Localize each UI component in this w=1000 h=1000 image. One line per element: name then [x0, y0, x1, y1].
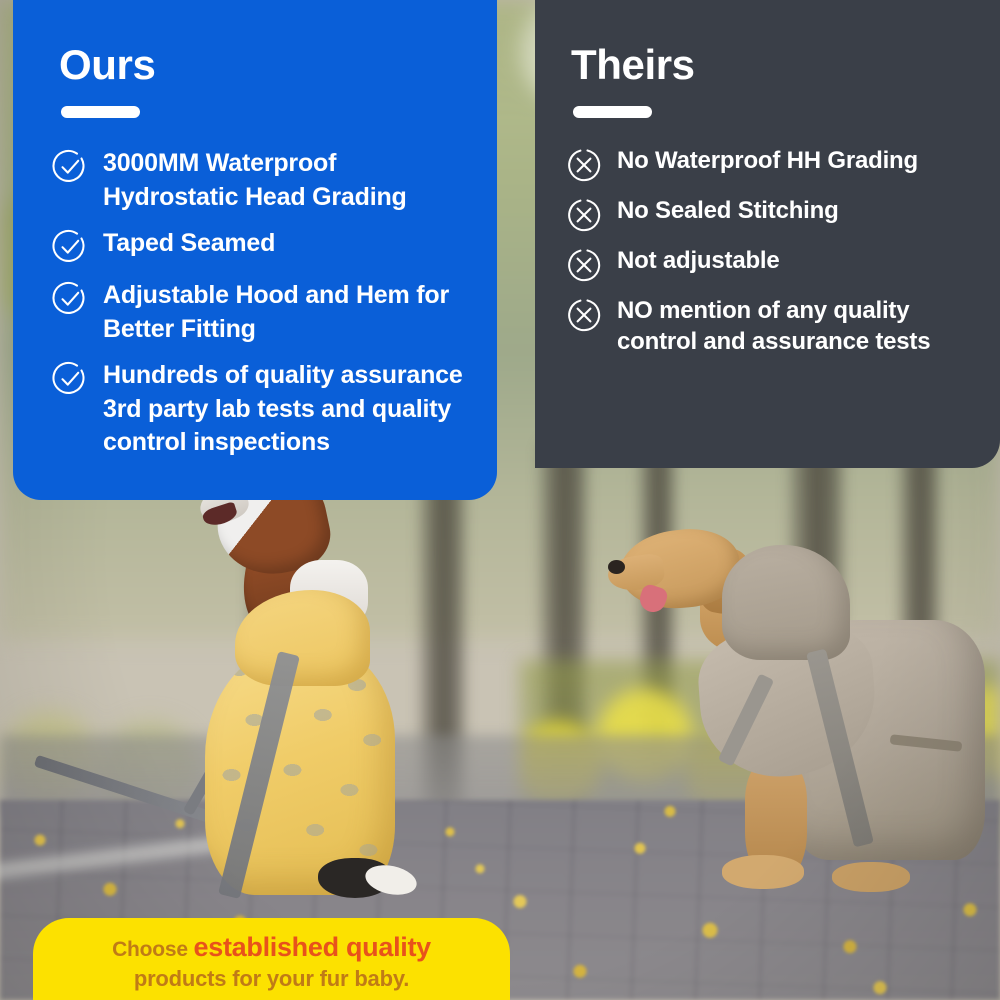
list-item: No Waterproof HH Grading: [565, 144, 978, 184]
theirs-feature-list: No Waterproof HH Grading No Sealed Stitc…: [565, 144, 978, 357]
x-circle-icon: [565, 246, 603, 284]
promo-banner: Choose established quality products for …: [33, 918, 510, 1000]
theirs-title-underline: [573, 106, 652, 118]
ours-title: Ours: [59, 44, 475, 86]
list-item: NO mention of any quality control and as…: [565, 294, 978, 357]
list-item: No Sealed Stitching: [565, 194, 978, 234]
check-circle-icon: [51, 280, 89, 318]
list-item-label: Not adjustable: [617, 244, 780, 276]
list-item-label: Taped Seamed: [103, 226, 275, 261]
list-item: Taped Seamed: [51, 226, 475, 266]
x-circle-icon: [565, 196, 603, 234]
list-item: Adjustable Hood and Hem for Better Fitti…: [51, 278, 475, 346]
promo-headline: Choose established quality: [33, 932, 510, 964]
theirs-title: Theirs: [571, 44, 978, 86]
list-item-label: Hundreds of quality assurance 3rd party …: [103, 358, 475, 460]
list-item-label: Adjustable Hood and Hem for Better Fitti…: [103, 278, 475, 346]
check-circle-icon: [51, 360, 89, 398]
theirs-panel: Theirs No Waterproof HH Grading: [535, 0, 1000, 468]
check-circle-icon: [51, 228, 89, 266]
ours-feature-list: 3000MM Waterproof Hydrostatic Head Gradi…: [51, 146, 475, 460]
check-circle-icon: [51, 148, 89, 186]
list-item-label: NO mention of any quality control and as…: [617, 294, 978, 357]
list-item-label: 3000MM Waterproof Hydrostatic Head Gradi…: [103, 146, 475, 214]
x-circle-icon: [565, 296, 603, 334]
x-circle-icon: [565, 146, 603, 184]
comparison-infographic: Ours 3000MM Waterproof Hydrostatic Head …: [0, 0, 1000, 1000]
ours-title-underline: [61, 106, 140, 118]
list-item-label: No Waterproof HH Grading: [617, 144, 918, 176]
promo-lead-text: Choose: [112, 938, 193, 961]
list-item: Not adjustable: [565, 244, 978, 284]
list-item: Hundreds of quality assurance 3rd party …: [51, 358, 475, 460]
ours-panel: Ours 3000MM Waterproof Hydrostatic Head …: [13, 0, 497, 500]
promo-accent-text: established quality: [194, 932, 431, 962]
list-item: 3000MM Waterproof Hydrostatic Head Gradi…: [51, 146, 475, 214]
promo-subtext: products for your fur baby.: [33, 966, 510, 992]
list-item-label: No Sealed Stitching: [617, 194, 839, 226]
